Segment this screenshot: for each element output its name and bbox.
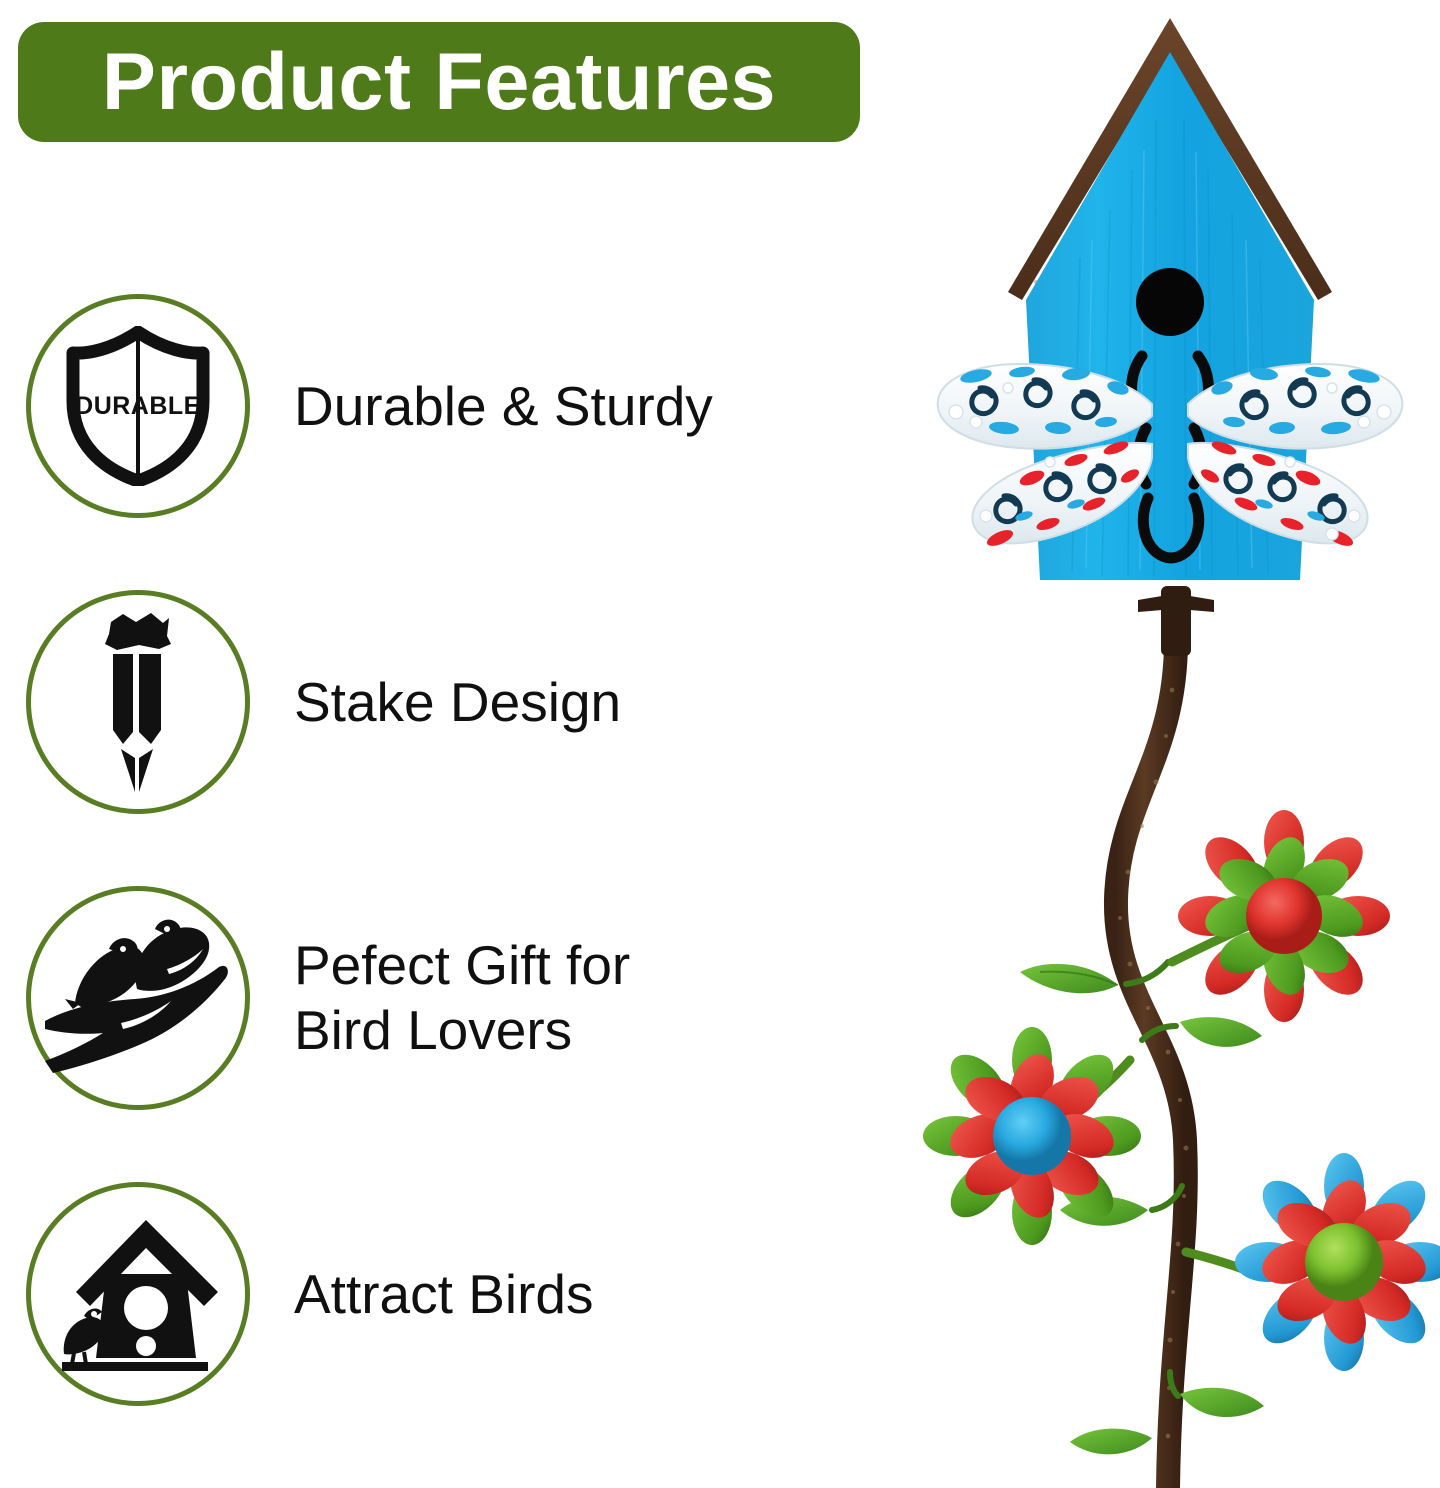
- flower-middle-left: [923, 1027, 1141, 1245]
- flower-center: [993, 1097, 1071, 1175]
- birdhouse-with-bird-icon: [48, 1212, 228, 1377]
- two-birds-on-branch-icon: [43, 911, 233, 1086]
- leaf: [1180, 1017, 1262, 1047]
- feature-icon-circle: [26, 590, 250, 814]
- product-photo-dragonfly-birdhouse-stake: [880, 0, 1440, 1488]
- page-title: Product Features: [102, 42, 776, 123]
- feature-item-stake: Stake Design: [0, 554, 880, 850]
- feature-label-attract: Attract Birds: [294, 1262, 594, 1327]
- feature-label-gift: Pefect Gift for Bird Lovers: [294, 933, 630, 1063]
- stake-connector: [1138, 586, 1214, 656]
- flower-top-right: [1178, 810, 1390, 1022]
- shield-durable-icon: DURABLE: [63, 326, 213, 486]
- flower-bottom-right: [1235, 1153, 1440, 1371]
- feature-label-durable: Durable & Sturdy: [294, 374, 713, 439]
- leaf: [1070, 1429, 1152, 1455]
- feature-item-gift: Pefect Gift for Bird Lovers: [0, 850, 880, 1146]
- feature-list: DURABLE Durable & Sturdy: [0, 258, 880, 1442]
- feature-label-stake: Stake Design: [294, 670, 621, 735]
- feature-item-durable: DURABLE Durable & Sturdy: [0, 258, 880, 554]
- feature-item-attract: Attract Birds: [0, 1146, 880, 1442]
- feature-icon-circle: [26, 1182, 250, 1406]
- ground-stake-icon: [73, 610, 203, 795]
- leaf: [1020, 964, 1118, 993]
- page-title-banner: Product Features: [18, 22, 860, 142]
- leaf: [1180, 1388, 1264, 1417]
- product-features-infographic: Product Features DURABLE Durable & Sturd…: [0, 0, 1440, 1488]
- shield-icon-text: DURABLE: [75, 392, 201, 420]
- birdhouse-entrance-hole: [1136, 268, 1204, 336]
- feature-icon-circle: DURABLE: [26, 294, 250, 518]
- flower-center: [1246, 878, 1322, 954]
- feature-icon-circle: [26, 886, 250, 1110]
- flower-center: [1305, 1223, 1383, 1301]
